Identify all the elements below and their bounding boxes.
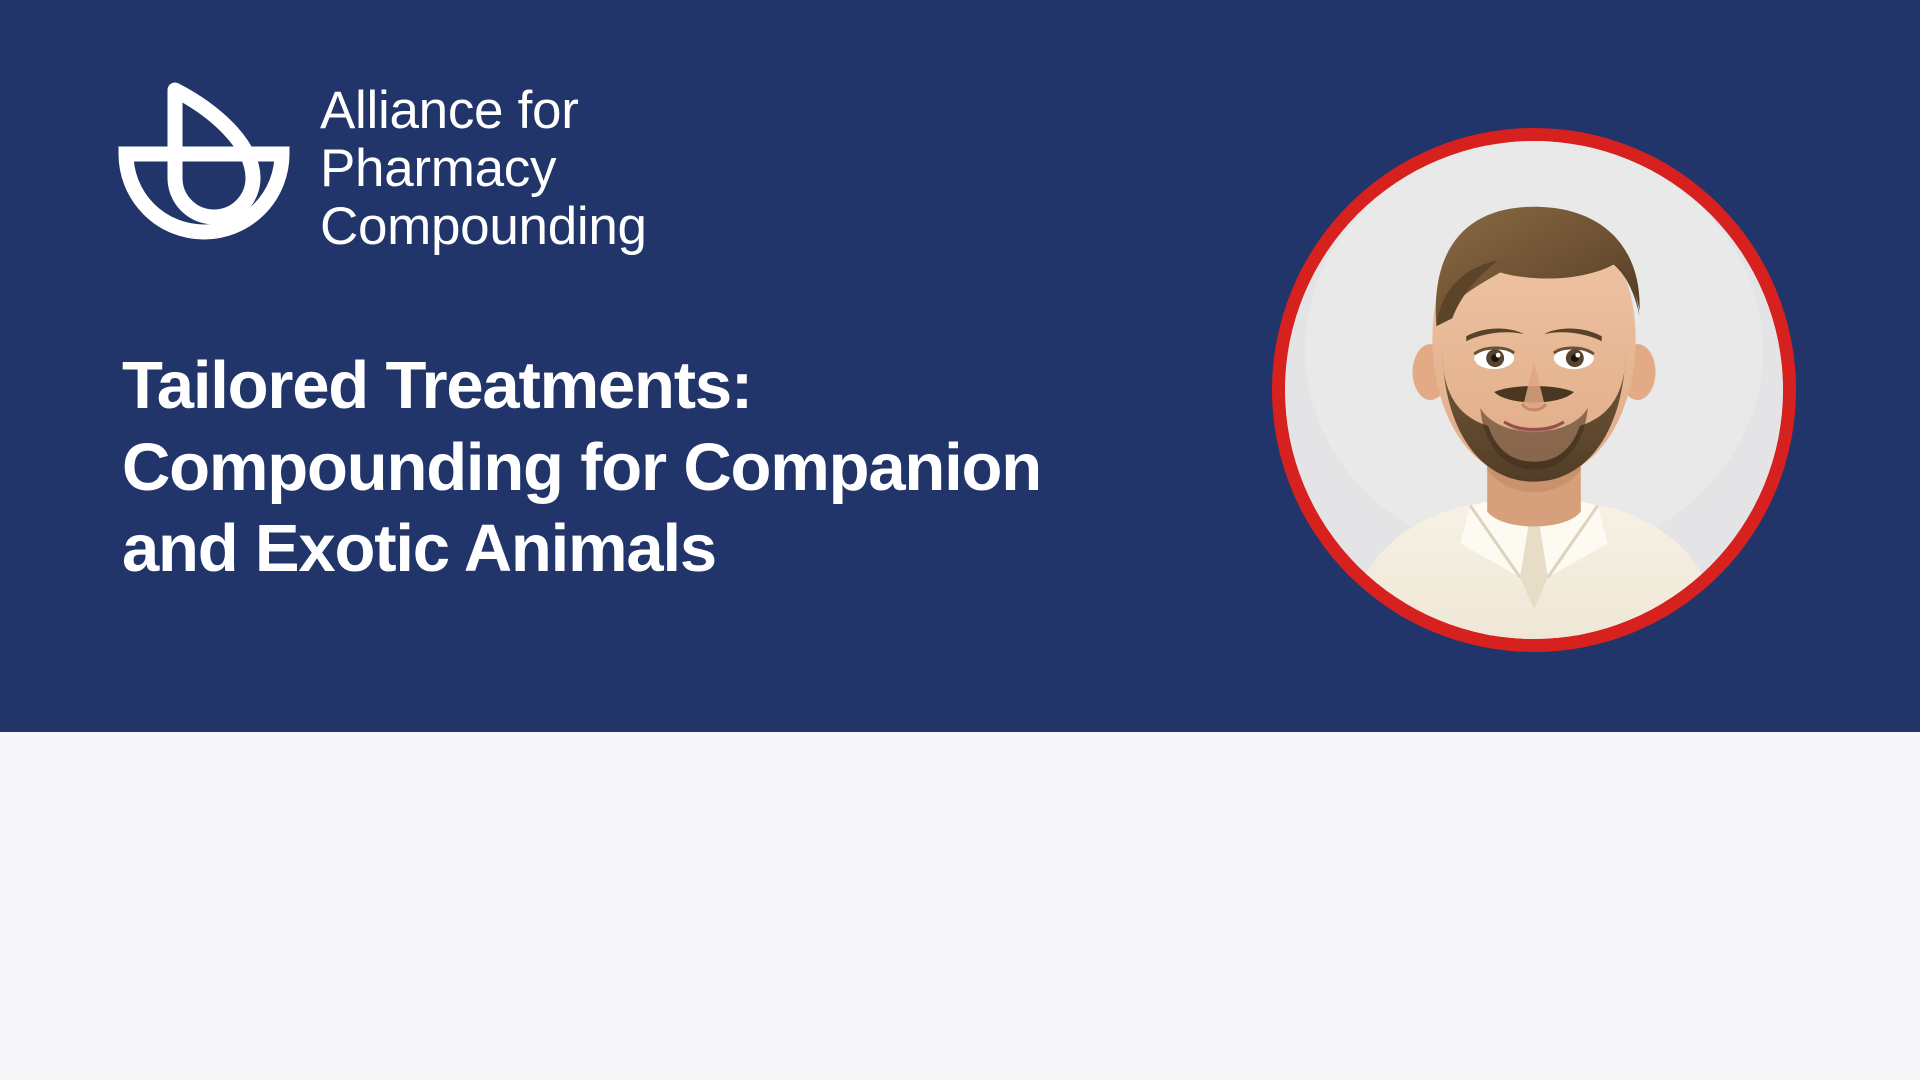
hero-panel: Alliance for Pharmacy Compounding Tailor… — [0, 0, 1920, 732]
headshot-photo — [1285, 141, 1783, 639]
apc-logo-lockup[interactable]: Alliance for Pharmacy Compounding — [118, 70, 647, 255]
page-title: Tailored Treatments: Compounding for Com… — [122, 345, 1212, 590]
avatar — [1285, 141, 1783, 639]
speaker-avatar-ring — [1272, 128, 1796, 652]
footer-panel: Webinar | Feb 26 Reserve my spot Scott D… — [0, 732, 1920, 1080]
webinar-promo-banner: Alliance for Pharmacy Compounding Tailor… — [0, 0, 1920, 1080]
apc-wordmark: Alliance for Pharmacy Compounding — [320, 70, 647, 255]
mortar-and-pestle-icon — [118, 70, 290, 242]
